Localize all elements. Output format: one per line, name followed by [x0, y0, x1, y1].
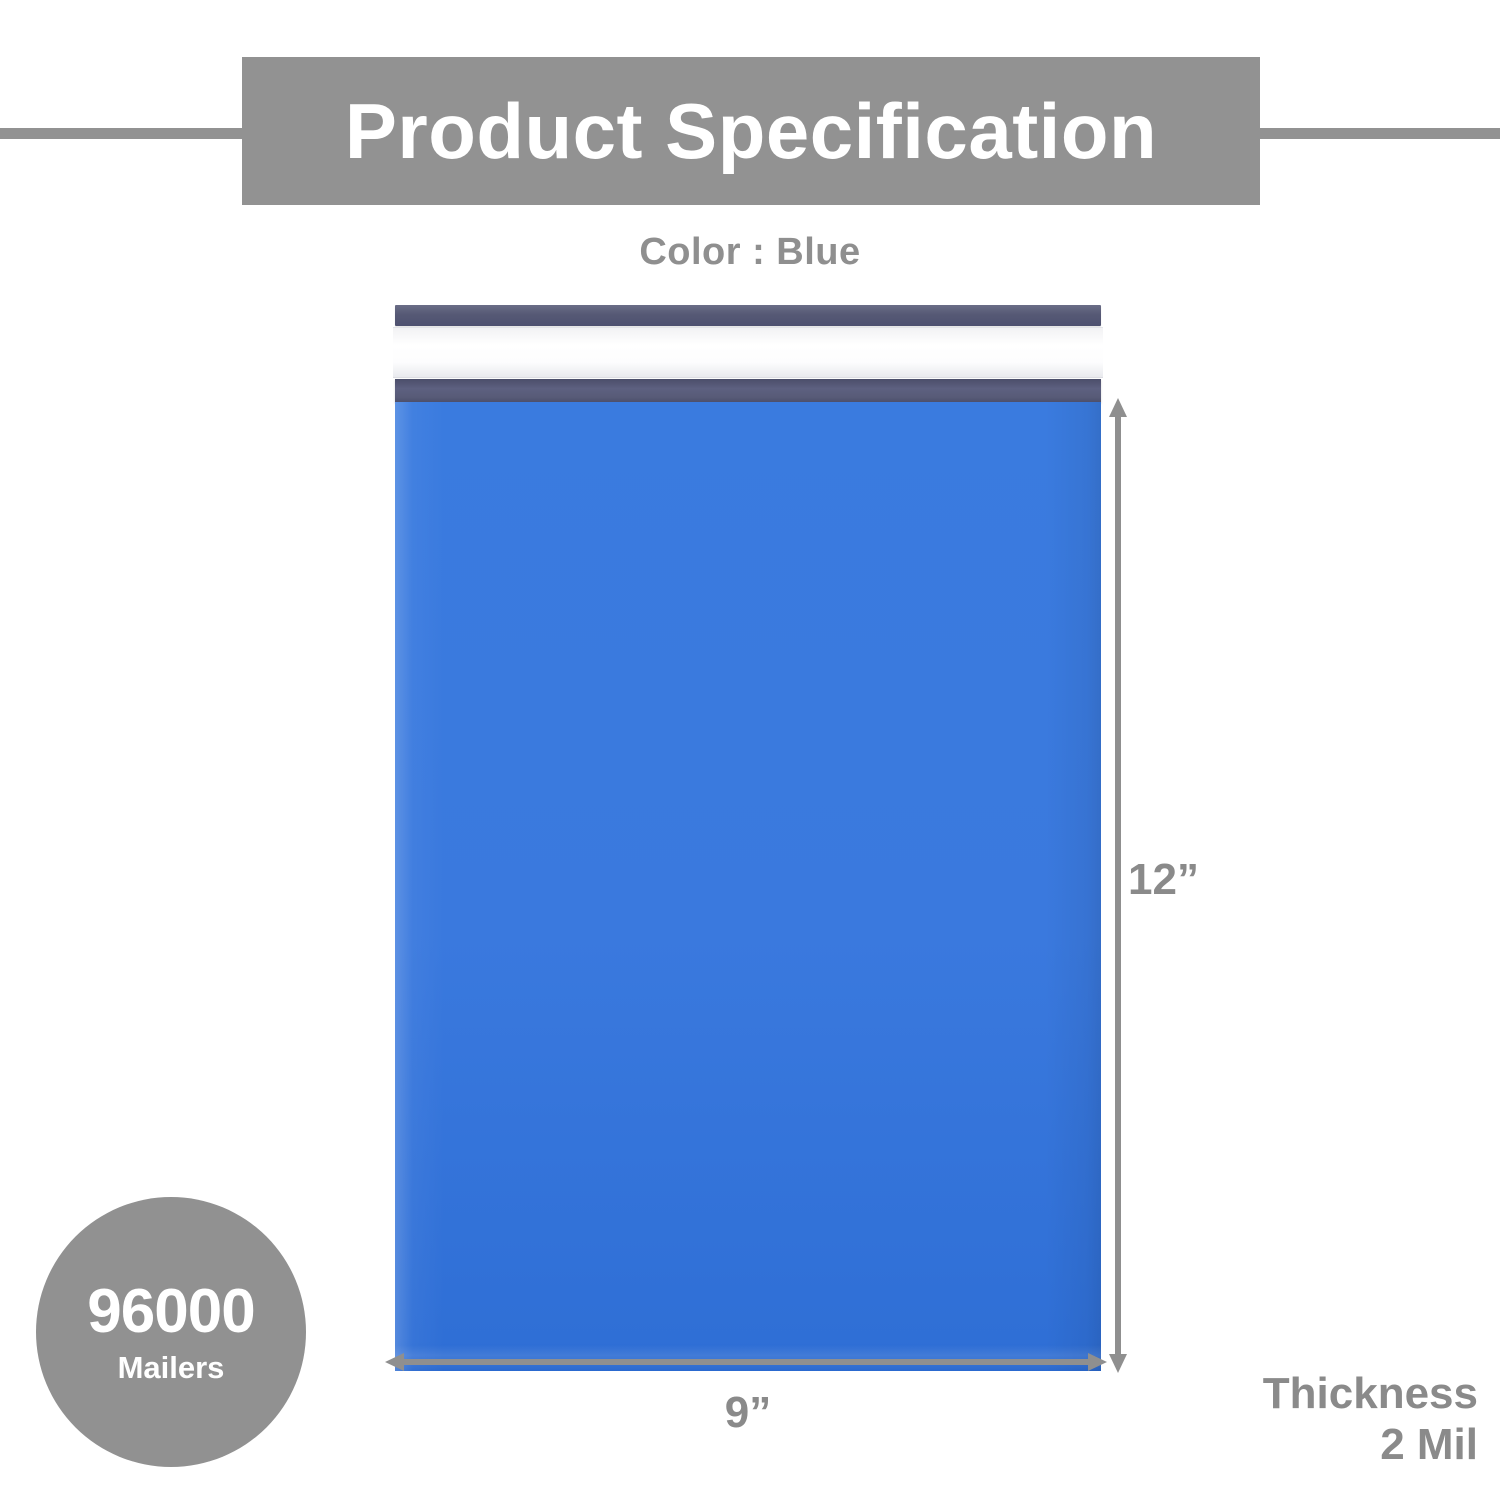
dimension-line	[399, 1359, 1093, 1365]
mailer-body	[395, 402, 1101, 1371]
quantity-unit: Mailers	[118, 1352, 225, 1383]
width-dimension-arrow	[385, 1352, 1107, 1372]
product-color-label: Color : Blue	[0, 231, 1500, 274]
quantity-badge: 96000 Mailers	[36, 1197, 306, 1467]
product-specification-infographic: Product Specification Color : Blue 12”	[0, 0, 1500, 1500]
arrow-right-icon	[1088, 1353, 1107, 1371]
mailer-flap-fold	[395, 379, 1101, 403]
quantity-value: 96000	[87, 1281, 254, 1343]
mailer-adhesive-strip	[393, 327, 1103, 378]
height-dimension-label: 12”	[1128, 855, 1199, 905]
mailer-flap-top-edge	[395, 305, 1101, 326]
thickness-callout: Thickness 2 Mil	[1263, 1368, 1478, 1470]
thickness-label: Thickness	[1263, 1368, 1478, 1419]
dimension-line	[1115, 412, 1121, 1359]
page-title: Product Specification	[345, 92, 1157, 170]
height-dimension-arrow	[1108, 398, 1128, 1373]
arrow-down-icon	[1109, 1354, 1127, 1373]
title-banner: Product Specification	[242, 57, 1260, 205]
width-dimension-value: 9”	[725, 1388, 771, 1438]
poly-mailer-illustration	[393, 303, 1103, 1371]
thickness-value: 2 Mil	[1263, 1419, 1478, 1470]
